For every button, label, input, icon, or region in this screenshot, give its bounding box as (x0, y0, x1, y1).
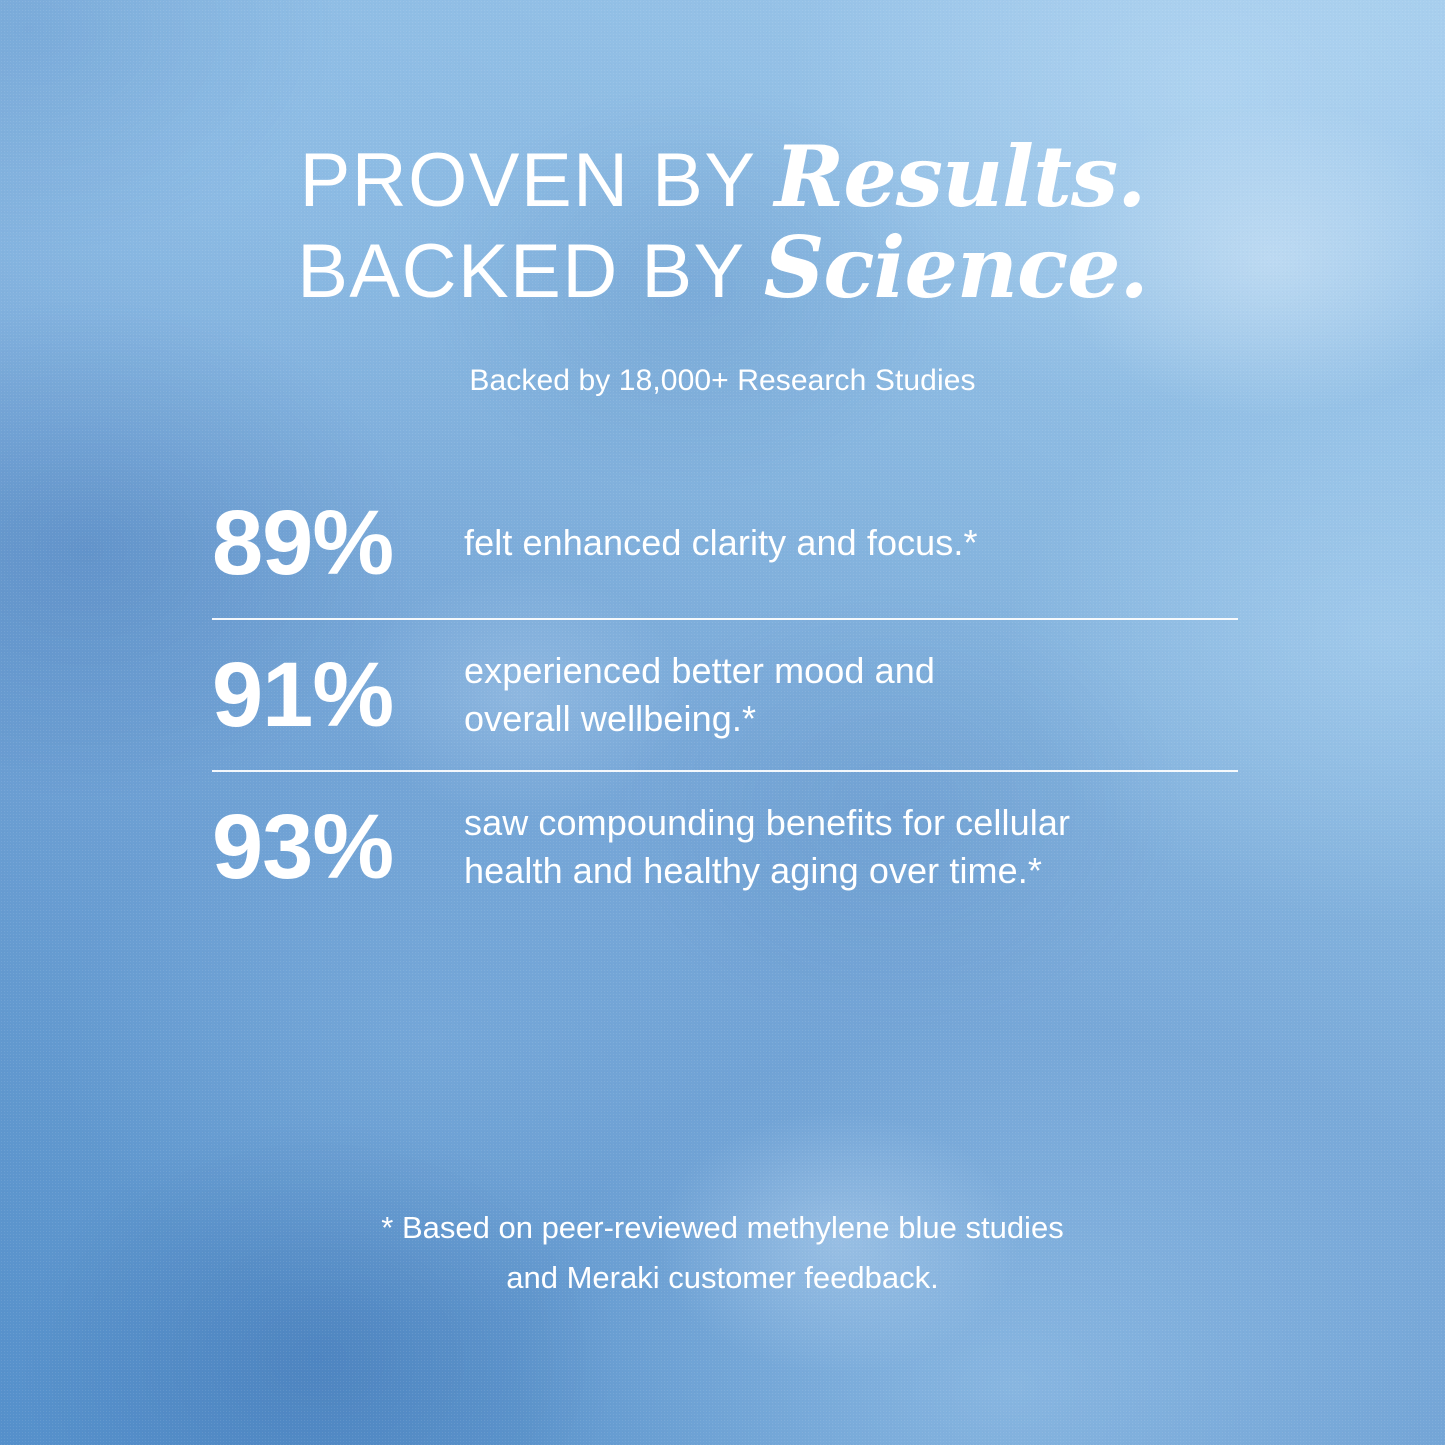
stats-list: 89% felt enhanced clarity and focus.* 91… (212, 468, 1238, 922)
promo-poster: PROVEN BYResults. BACKED BYScience. Back… (0, 0, 1445, 1445)
stat-row: 93% saw compounding benefits for cellula… (212, 772, 1238, 922)
stat-description-line: experienced better mood and (464, 647, 1238, 695)
headline: PROVEN BYResults. BACKED BYScience. (0, 134, 1445, 315)
stat-value: 89% (212, 497, 464, 589)
stat-description: experienced better mood and overall well… (464, 647, 1238, 742)
footnote-line-1: * Based on peer-reviewed methylene blue … (0, 1203, 1445, 1253)
stat-value: 91% (212, 649, 464, 741)
stat-description-line: saw compounding benefits for cellular (464, 799, 1238, 847)
footnote-line-2: and Meraki customer feedback. (0, 1253, 1445, 1303)
headline-line-2-plain: BACKED BY (297, 229, 746, 314)
headline-line-2: BACKED BYScience. (0, 225, 1445, 312)
headline-line-1-plain: PROVEN BY (300, 138, 757, 223)
stat-description-line: health and healthy aging over time.* (464, 847, 1238, 895)
poster-content: PROVEN BYResults. BACKED BYScience. Back… (0, 0, 1445, 1445)
headline-line-1-accent: Results. (775, 127, 1146, 226)
stat-value: 93% (212, 801, 464, 893)
stat-row: 89% felt enhanced clarity and focus.* (212, 468, 1238, 618)
subtitle: Backed by 18,000+ Research Studies (0, 364, 1445, 398)
headline-line-2-accent: Science. (764, 218, 1148, 317)
stat-row: 91% experienced better mood and overall … (212, 620, 1238, 770)
stat-description-line: overall wellbeing.* (464, 695, 1238, 743)
stat-description-line: felt enhanced clarity and focus.* (464, 519, 1238, 567)
stat-description: felt enhanced clarity and focus.* (464, 519, 1238, 567)
footnote: * Based on peer-reviewed methylene blue … (0, 1203, 1445, 1303)
headline-line-1: PROVEN BYResults. (0, 134, 1445, 221)
stat-description: saw compounding benefits for cellular he… (464, 799, 1238, 894)
